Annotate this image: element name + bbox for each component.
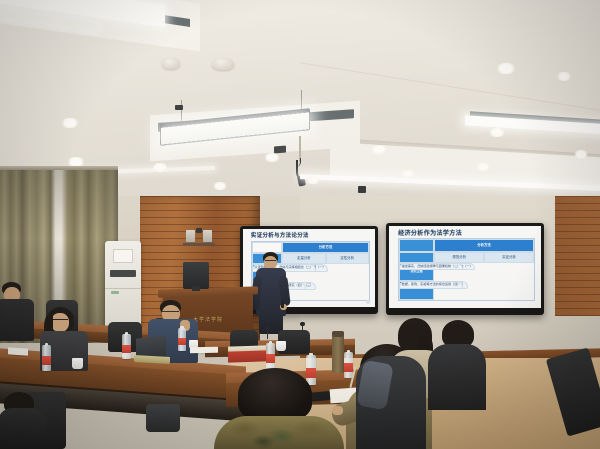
- bottle-3: [178, 328, 186, 351]
- right-table-subheader-1: 实证分析: [484, 252, 534, 263]
- downlight-7: [495, 63, 517, 74]
- downlight-11: [475, 163, 491, 171]
- microphone-2: [300, 322, 305, 326]
- paper-stack-1: [8, 347, 28, 355]
- downlight-12: [556, 72, 572, 81]
- ac-logo: [111, 291, 119, 295]
- presenter-remote: [281, 301, 284, 308]
- conference-room-photo: 实证分析与方法论分法 分析方法 定量分析 定性分析 以数据为基础，通过统计学方法…: [0, 0, 600, 449]
- attendee-back-left-body: [0, 299, 34, 341]
- attendee-right-dark-a: [428, 320, 486, 410]
- bottle-3-label: [178, 338, 186, 346]
- attendee-back-left: [0, 282, 38, 342]
- wall-camera-icon: [196, 228, 202, 233]
- ceiling-sensor-box: [175, 105, 183, 110]
- attendee-woman-glasses-icon: [51, 319, 68, 322]
- right-display-screen: 经济分析作为法学方法 分析方法 规范分析 实证分析 研究主题 以规范文本为对象，…: [389, 226, 541, 308]
- left-table-subheader-1: 定性分析: [326, 253, 369, 263]
- downlight-5: [370, 145, 388, 154]
- downlight-9: [305, 176, 321, 184]
- left-slide-title: 实证分析与方法论分法: [251, 231, 309, 239]
- ac-display-panel: [113, 249, 133, 263]
- right-table-subheader-0: 规范分析: [434, 252, 484, 263]
- bottle-2: [122, 334, 131, 359]
- downlight-1: [60, 118, 80, 128]
- bottle-4: [266, 343, 275, 369]
- attendee-far-right-body: [0, 408, 46, 449]
- bag-under-table: [146, 404, 180, 432]
- downlight-13: [573, 150, 589, 159]
- cup-3: [276, 341, 286, 351]
- right-table-corner: [399, 239, 434, 251]
- attendee-camouflage-jacket: [214, 368, 344, 449]
- paper-stack-2: [190, 347, 218, 353]
- bottle-1-cap: [45, 343, 49, 346]
- right-slide-title: 经济分析作为法学方法: [398, 228, 462, 237]
- ac-vent: [110, 270, 136, 277]
- downlight-3: [151, 163, 169, 172]
- attendee-far-right-edge: [0, 392, 46, 449]
- attendee-right-dark-b: [356, 356, 426, 449]
- wall-speaker-right: [203, 230, 212, 242]
- ceiling-camera: [358, 186, 366, 193]
- attendee-khaki-hand: [332, 406, 343, 415]
- downlight-6: [488, 128, 506, 137]
- right-slide-table: 分析方法 规范分析 实证分析 研究主题 以规范文本为对象，探讨法律条文的应然状态…: [398, 238, 535, 301]
- downlight-8: [212, 182, 228, 190]
- microphone-2-stem: [302, 326, 303, 335]
- air-conditioner: [105, 241, 141, 331]
- thermos-cap: [332, 331, 344, 337]
- bottle-1-label: [42, 356, 51, 365]
- right-table-row1-cell1: 数据、案例、实验等方法的综合运用（四）: [399, 281, 463, 289]
- wall-bracket: [183, 243, 215, 245]
- right-table-row0-cell1: 描述事实，归纳经验规律与因果机制（二）: [399, 263, 463, 271]
- podium-monitor: [183, 262, 209, 289]
- wall-speaker-left: [186, 230, 195, 242]
- presenter: [252, 252, 292, 330]
- right-table-header-span: 分析方法: [434, 239, 534, 251]
- attendee-right-dark-a-body: [428, 344, 486, 410]
- presenter-glasses-icon: [265, 260, 276, 262]
- wood-slat-wall-right: [555, 196, 600, 316]
- attendee-camo-hair: [238, 368, 312, 422]
- bottle-1: [42, 345, 51, 371]
- right-table-side-blank: [399, 252, 434, 263]
- microphone-1-stem: [267, 330, 268, 339]
- bottle-3-cap: [180, 326, 184, 329]
- bottle-5-cap: [309, 353, 313, 356]
- podium-monitor-stand: [192, 286, 200, 291]
- smoke-detector-icon-1: [162, 58, 180, 69]
- suspended-panel-light: [160, 116, 310, 138]
- smoke-detector-icon-2: [212, 58, 234, 70]
- bottle-2-cap: [125, 332, 129, 335]
- downlight-10: [400, 170, 416, 178]
- right-display[interactable]: 经济分析作为法学方法 分析方法 规范分析 实证分析 研究主题 以规范文本为对象，…: [386, 223, 544, 315]
- downlight-4: [263, 153, 281, 162]
- attendee-woman-head: [51, 313, 69, 332]
- slide-page-dot: [366, 300, 370, 304]
- cup-1: [72, 358, 83, 369]
- curtain-rail: [0, 166, 118, 170]
- left-table-header-span: 分析方法: [282, 242, 368, 254]
- bottle-4-label: [266, 354, 275, 363]
- attendee-man-laptop-glasses-icon: [162, 311, 179, 314]
- ac-seam: [105, 288, 141, 289]
- bottle-4-cap: [269, 341, 273, 344]
- projector-mount: [274, 146, 286, 154]
- bottle-2-label: [122, 345, 131, 354]
- microphone-1: [265, 326, 270, 330]
- attendee-camo-body: [214, 416, 344, 449]
